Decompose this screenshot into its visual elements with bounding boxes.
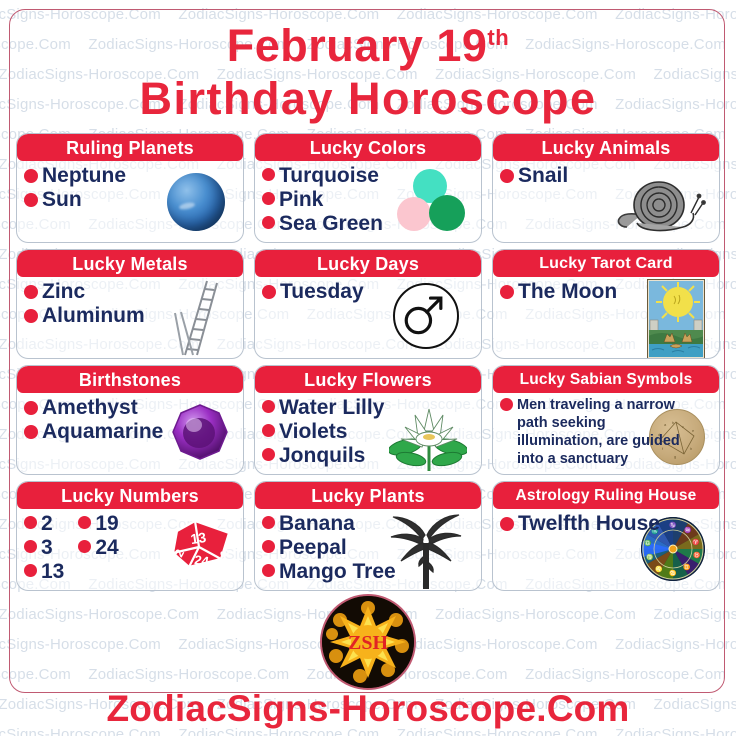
- list-item: Men traveling a narrow path seeking illu…: [500, 396, 713, 468]
- bullet-icon: [262, 564, 275, 577]
- list-item: Amethyst: [24, 396, 237, 420]
- svg-text:♋: ♋: [669, 569, 677, 577]
- list-item: Peepal: [262, 536, 475, 560]
- card-astrology-ruling-house[interactable]: Astrology Ruling House: [492, 481, 720, 591]
- bullet-icon: [24, 540, 37, 553]
- list-item: Snail: [500, 164, 713, 188]
- card-header: Birthstones: [17, 366, 243, 393]
- bullet-icon: [262, 516, 275, 529]
- card-header: Lucky Colors: [255, 134, 481, 161]
- svg-text:♉: ♉: [693, 551, 701, 559]
- numbers-column-left: 2 3 13: [24, 512, 64, 584]
- card-lucky-metals[interactable]: Lucky Metals: [16, 249, 244, 359]
- card-body: Neptune Sun: [17, 161, 243, 242]
- card-title: Lucky Plants: [311, 487, 424, 505]
- svg-text:ZSH: ZSH: [348, 632, 388, 654]
- card-lucky-days[interactable]: Lucky Days Tuesday: [254, 249, 482, 359]
- list-item: Violets: [262, 420, 475, 444]
- numbers-column-right: 19 24: [78, 512, 118, 584]
- card-title: Lucky Flowers: [304, 371, 432, 389]
- card-title: Lucky Animals: [542, 139, 671, 157]
- cards-grid: Ruling Planets Neptune Sun Lucky Colors: [16, 133, 720, 594]
- card-lucky-plants[interactable]: Lucky Plants: [254, 481, 482, 591]
- list-item-label: Sea Green: [279, 212, 383, 236]
- card-birthstones[interactable]: Birthstones: [16, 365, 244, 475]
- card-title: Astrology Ruling House: [516, 487, 697, 505]
- list-item: Mango Tree: [262, 560, 475, 584]
- numbers-columns: 2 3 13 19: [24, 512, 237, 584]
- list-item-label: Turquoise: [279, 164, 379, 188]
- list-item: Tuesday: [262, 280, 475, 304]
- card-header: Lucky Animals: [493, 134, 719, 161]
- bullet-icon: [262, 424, 275, 437]
- bullet-icon: [500, 285, 514, 299]
- card-title: Lucky Numbers: [61, 487, 199, 505]
- list-item-label: Amethyst: [42, 396, 138, 420]
- list-item-label: Tuesday: [280, 280, 364, 304]
- list-item: Water Lilly: [262, 396, 475, 420]
- card-body: 13 2 24 3 2: [17, 509, 243, 590]
- page-title-date-text: February 19: [227, 20, 488, 71]
- svg-text:♌: ♌: [655, 565, 663, 573]
- svg-text:♊: ♊: [683, 563, 691, 571]
- list-item: 13: [24, 560, 64, 584]
- list-item: The Moon: [500, 280, 713, 304]
- card-header: Lucky Tarot Card: [493, 250, 719, 277]
- list-item: Sea Green: [262, 212, 475, 236]
- card-title: Lucky Days: [317, 255, 419, 273]
- list-item: Aluminum: [24, 304, 237, 328]
- card-title: Lucky Tarot Card: [539, 255, 673, 273]
- bullet-icon: [24, 516, 37, 529]
- list-item-label: Banana: [279, 512, 355, 536]
- bullet-icon: [262, 168, 275, 181]
- bullet-icon: [24, 285, 38, 299]
- list-item-label: Jonquils: [279, 444, 365, 468]
- bullet-icon: [262, 448, 275, 461]
- card-ruling-planets[interactable]: Ruling Planets Neptune Sun: [16, 133, 244, 243]
- card-lucky-animals[interactable]: Lucky Animals: [492, 133, 720, 243]
- list-item-label: 13: [41, 560, 64, 584]
- card-header: Lucky Sabian Symbols: [493, 366, 719, 393]
- list-item-label: Twelfth House: [518, 512, 660, 536]
- bullet-icon: [24, 193, 38, 207]
- card-lucky-colors[interactable]: Lucky Colors Turquoise Pink: [254, 133, 482, 243]
- card-header: Lucky Days: [255, 250, 481, 277]
- page-header: February 19th Birthday Horoscope: [0, 12, 736, 126]
- list-item: 2: [24, 512, 64, 536]
- bullet-icon: [24, 564, 37, 577]
- list-item: 24: [78, 536, 118, 560]
- svg-text:♎: ♎: [644, 539, 652, 547]
- bullet-icon: [500, 517, 514, 531]
- list-item: Neptune: [24, 164, 237, 188]
- card-body: ♑♒♈ ♉♊♋ ♌♍♎ ♏ Twelfth House: [493, 509, 719, 590]
- list-item-label: 24: [95, 536, 118, 560]
- list-item-label: Neptune: [42, 164, 126, 188]
- list-item: Twelfth House: [500, 512, 713, 536]
- list-item-label: Men traveling a narrow path seeking illu…: [517, 396, 685, 468]
- card-body: The Moon: [493, 277, 719, 358]
- bullet-icon: [24, 425, 38, 439]
- list-item-label: Violets: [279, 420, 347, 444]
- bullet-icon: [500, 169, 514, 183]
- list-item: Banana: [262, 512, 475, 536]
- card-header: Ruling Planets: [17, 134, 243, 161]
- sunburst-logo: ZSH: [320, 594, 416, 690]
- list-item: Pink: [262, 188, 475, 212]
- card-title: Birthstones: [79, 371, 181, 389]
- infographic-page: ZodiacSigns-Horoscope.Com ZodiacSigns-Ho…: [0, 0, 736, 736]
- card-lucky-numbers[interactable]: Lucky Numbers 13 2 24 3: [16, 481, 244, 591]
- list-item: 19: [78, 512, 118, 536]
- svg-text:♈: ♈: [692, 538, 700, 546]
- card-header: Astrology Ruling House: [493, 482, 719, 509]
- list-item-label: Snail: [518, 164, 568, 188]
- list-item-label: 2: [41, 512, 53, 536]
- card-title: Lucky Colors: [310, 139, 426, 157]
- page-title-date: February 19th: [0, 12, 736, 72]
- list-item-label: Pink: [279, 188, 323, 212]
- bullet-icon: [78, 516, 91, 529]
- list-item: Jonquils: [262, 444, 475, 468]
- bullet-icon: [24, 401, 38, 415]
- card-body: Zinc Aluminum: [17, 277, 243, 358]
- card-body: Water Lilly Violets Jonquils: [255, 393, 481, 474]
- page-title-date-suffix: th: [487, 25, 509, 50]
- list-item-label: The Moon: [518, 280, 617, 304]
- bullet-icon: [262, 285, 276, 299]
- list-item-label: 19: [95, 512, 118, 536]
- bullet-icon: [78, 540, 91, 553]
- list-item-label: Peepal: [279, 536, 347, 560]
- list-item: Sun: [24, 188, 237, 212]
- card-header: Lucky Metals: [17, 250, 243, 277]
- card-body: Turquoise Pink Sea Green: [255, 161, 481, 242]
- list-item-label: Aluminum: [42, 304, 145, 328]
- card-lucky-flowers[interactable]: Lucky Flowers: [254, 365, 482, 475]
- page-title-main: Birthday Horoscope: [0, 72, 736, 126]
- bullet-icon: [500, 398, 513, 411]
- bullet-icon: [262, 192, 275, 205]
- card-title: Lucky Sabian Symbols: [520, 371, 693, 389]
- card-body: abc def gh Men traveling a narrow path s…: [493, 393, 719, 474]
- card-body: Amethyst Aquamarine: [17, 393, 243, 474]
- footer-site-name: ZodiacSigns-Horoscope.Com: [0, 688, 736, 730]
- bullet-icon: [262, 540, 275, 553]
- card-body: Banana Peepal Mango Tree: [255, 509, 481, 590]
- bullet-icon: [262, 216, 275, 229]
- card-body: Snail: [493, 161, 719, 242]
- list-item-label: Aquamarine: [42, 420, 163, 444]
- list-item-label: Sun: [42, 188, 82, 212]
- list-item: 3: [24, 536, 64, 560]
- svg-text:♍: ♍: [646, 553, 654, 561]
- card-sabian-symbols[interactable]: Lucky Sabian Symbols abc def gh: [492, 365, 720, 475]
- bullet-icon: [262, 400, 275, 413]
- bullet-icon: [24, 169, 38, 183]
- list-item-label: Mango Tree: [279, 560, 396, 584]
- list-item-label: 3: [41, 536, 53, 560]
- card-header: Lucky Flowers: [255, 366, 481, 393]
- list-item-label: Water Lilly: [279, 396, 384, 420]
- list-item: Zinc: [24, 280, 237, 304]
- card-title: Lucky Metals: [72, 255, 187, 273]
- list-item: Aquamarine: [24, 420, 237, 444]
- card-header: Lucky Plants: [255, 482, 481, 509]
- list-item-label: Zinc: [42, 280, 85, 304]
- card-title: Ruling Planets: [66, 139, 194, 157]
- list-item: Turquoise: [262, 164, 475, 188]
- card-lucky-tarot[interactable]: Lucky Tarot Card: [492, 249, 720, 359]
- card-body: Tuesday: [255, 277, 481, 358]
- bullet-icon: [24, 309, 38, 323]
- card-header: Lucky Numbers: [17, 482, 243, 509]
